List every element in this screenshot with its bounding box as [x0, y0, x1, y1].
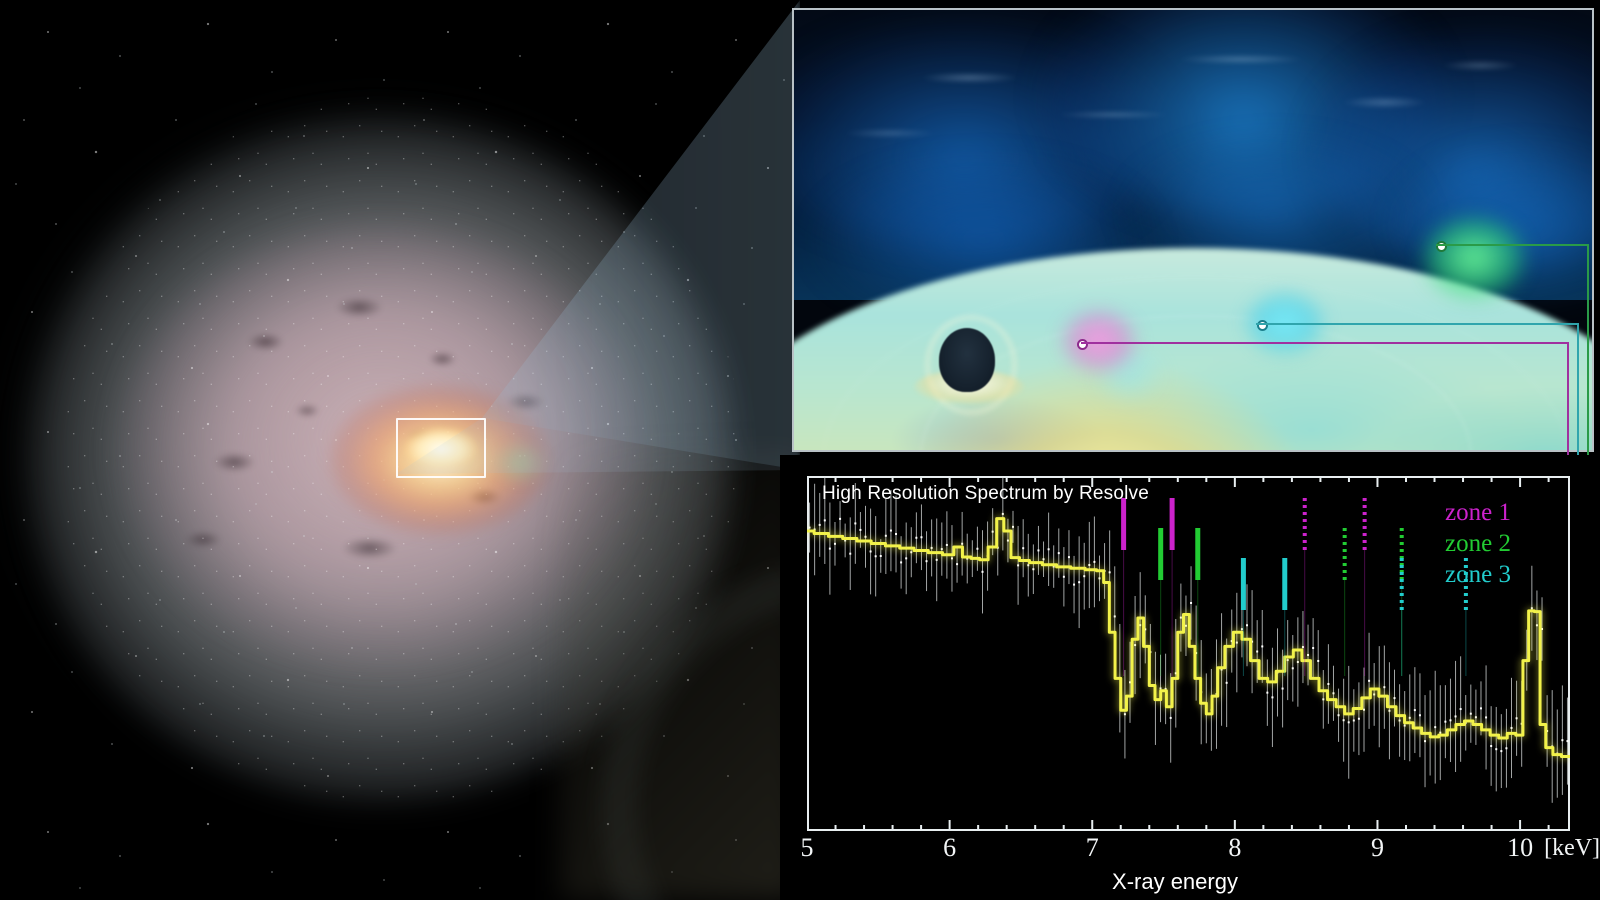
- legend-zone-1: zone 1: [1445, 500, 1511, 525]
- galaxy-wide-field-panel: [0, 0, 800, 900]
- legend-zone-3: zone 3: [1445, 562, 1511, 587]
- x-tick-label: 6: [943, 833, 956, 863]
- x-tick-label: 7: [1086, 833, 1099, 863]
- nucleus-zoom-box: [396, 418, 486, 478]
- legend-zone-2: zone 2: [1445, 531, 1511, 556]
- x-axis-unit-label: [keV]: [1544, 835, 1600, 862]
- x-tick-label: 5: [801, 833, 814, 863]
- zone3-marker[interactable]: [1257, 320, 1268, 331]
- galaxy-lower-right-glow: [560, 450, 800, 900]
- zone2-marker[interactable]: [1436, 241, 1447, 252]
- zone1-emission-blob: [1062, 310, 1136, 372]
- black-hole-shadow: [939, 328, 995, 392]
- x-tick-label: 8: [1228, 833, 1241, 863]
- x-tick-label: 9: [1371, 833, 1384, 863]
- x-axis-title: X-ray energy: [780, 869, 1570, 895]
- zone1-marker[interactable]: [1077, 339, 1088, 350]
- black-hole-inset-panel: [792, 8, 1594, 452]
- x-axis-tick-labels: 5678910[keV]: [780, 833, 1600, 873]
- zone2-emission-blob: [1422, 216, 1526, 300]
- x-tick-label: 10: [1507, 833, 1533, 863]
- spectrum-title: High Resolution Spectrum by Resolve: [822, 483, 1149, 505]
- figure-root: High Resolution Spectrum by Resolve 5678…: [0, 0, 1600, 900]
